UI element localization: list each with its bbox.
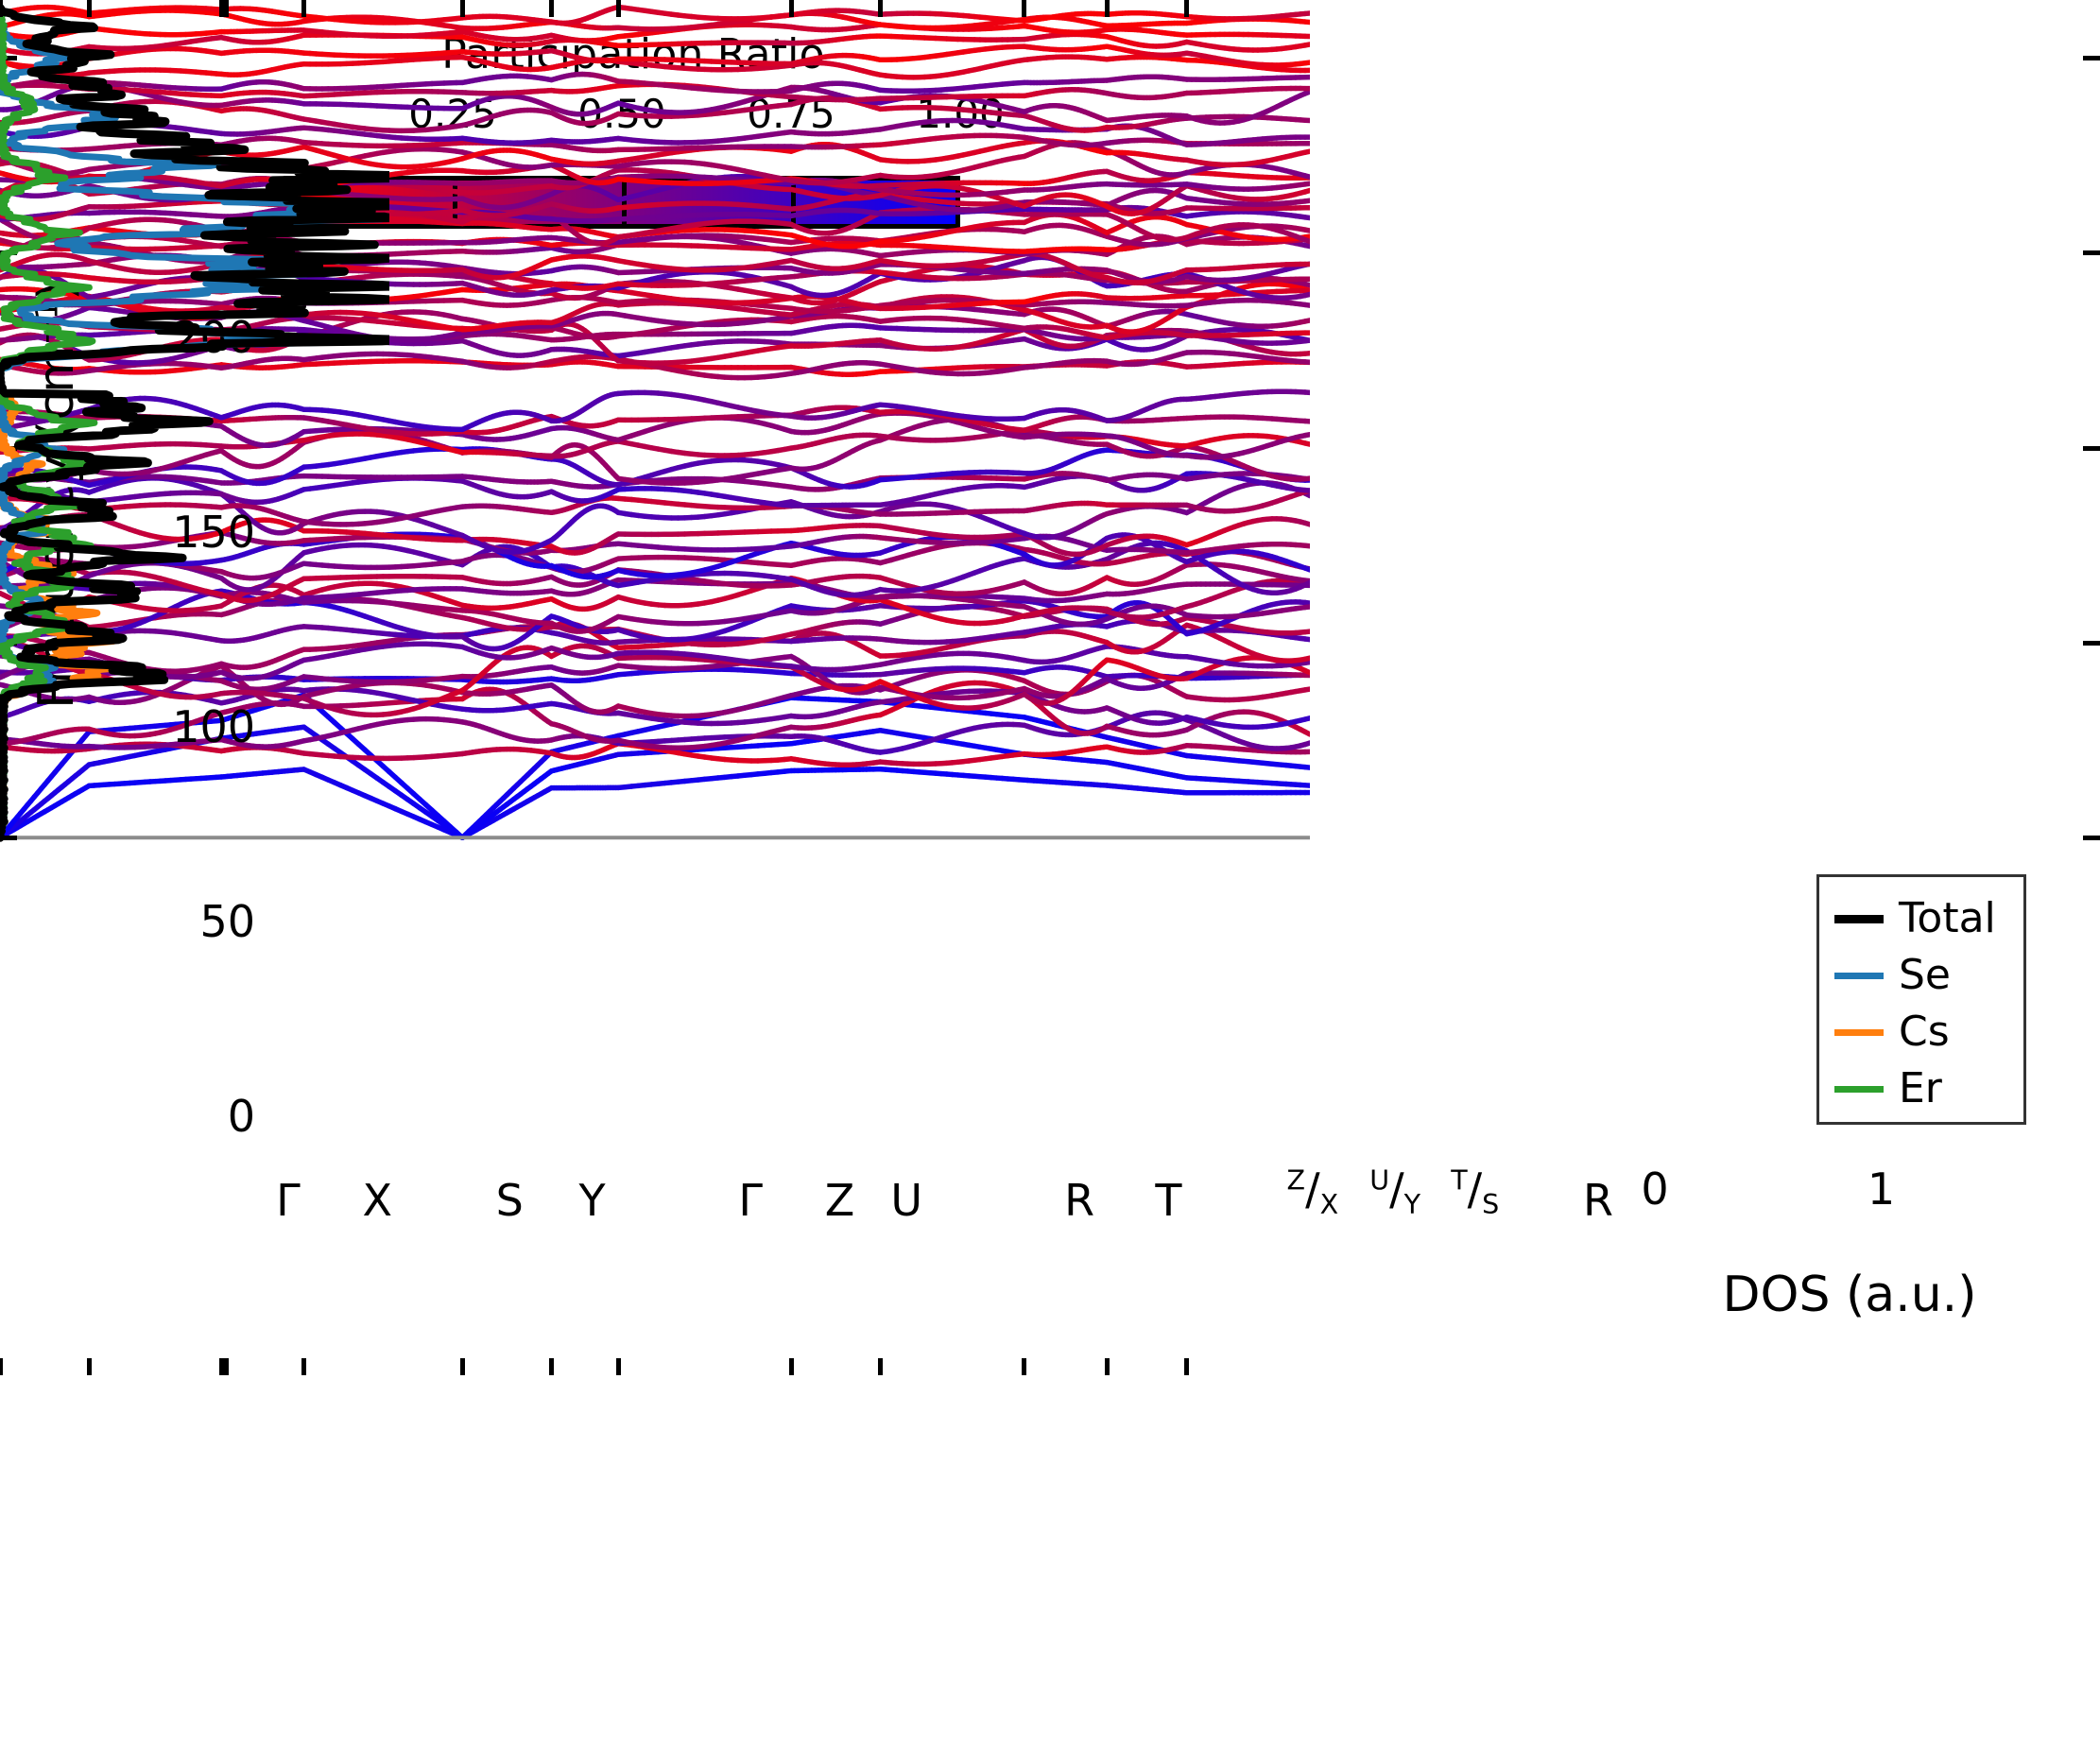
legend-row: Se xyxy=(1834,947,2023,1004)
legend-label: Er xyxy=(1899,1068,1942,1110)
dos-x-tick xyxy=(224,0,229,17)
dos-y-tick xyxy=(2083,836,2100,840)
dos-plot-area xyxy=(0,0,2100,1375)
legend-label: Cs xyxy=(1899,1011,1950,1053)
dos-y-tick xyxy=(2083,446,2100,451)
figure-canvas: Participation Ratio 0.250.500.751.00 050… xyxy=(0,0,2100,1375)
dos-y-tick xyxy=(2083,641,2100,646)
dos-x-tick xyxy=(0,1358,3,1375)
legend-swatch-cs-icon xyxy=(1834,1029,1884,1036)
legend-label: Se xyxy=(1899,955,1951,996)
dos-axis-label: DOS (a.u.) xyxy=(1723,1267,1977,1323)
dos-x-tick xyxy=(0,0,3,17)
dos-y-tick xyxy=(2083,250,2100,255)
dos-y-tick xyxy=(2083,56,2100,60)
legend-swatch-er-icon xyxy=(1834,1086,1884,1093)
legend-label: Total xyxy=(1899,898,1996,939)
dos-x-tick-label: 0 xyxy=(1641,1164,1668,1215)
dos-x-tick xyxy=(224,1358,229,1375)
dos-curves xyxy=(0,0,389,861)
dos-axes xyxy=(0,870,399,1741)
legend-row: Er xyxy=(1834,1060,2023,1117)
legend-row: Cs xyxy=(1834,1004,2023,1060)
legend-row: Total xyxy=(1834,890,2023,947)
legend-swatch-total-icon xyxy=(1834,915,1884,923)
legend-swatch-se-icon xyxy=(1834,973,1884,979)
dos-x-tick-label: 1 xyxy=(1868,1164,1895,1215)
dos-legend: TotalSeCsEr xyxy=(1816,874,2026,1125)
